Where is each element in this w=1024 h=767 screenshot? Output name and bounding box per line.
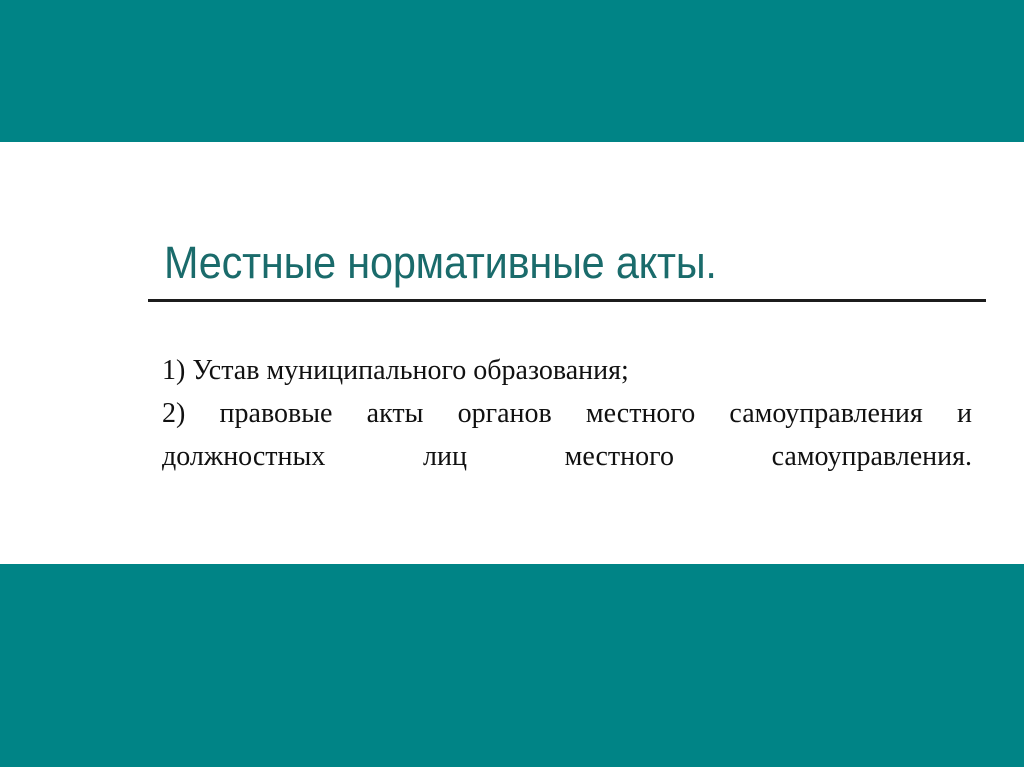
slide-content-area: Местные нормативные акты. 1) Устав муниц… <box>0 142 1024 564</box>
title-block: Местные нормативные акты. <box>148 237 986 302</box>
list-item: 2) правовые акты органов местного самоуп… <box>162 392 972 521</box>
title-divider <box>148 299 986 302</box>
list-item: 1) Устав муниципального образования; <box>162 349 972 392</box>
top-accent-band <box>0 0 1024 142</box>
slide: Местные нормативные акты. 1) Устав муниц… <box>0 0 1024 767</box>
page-title: Местные нормативные акты. <box>164 237 920 289</box>
body-list: 1) Устав муниципального образования; 2) … <box>162 349 972 521</box>
bottom-accent-band <box>0 564 1024 767</box>
